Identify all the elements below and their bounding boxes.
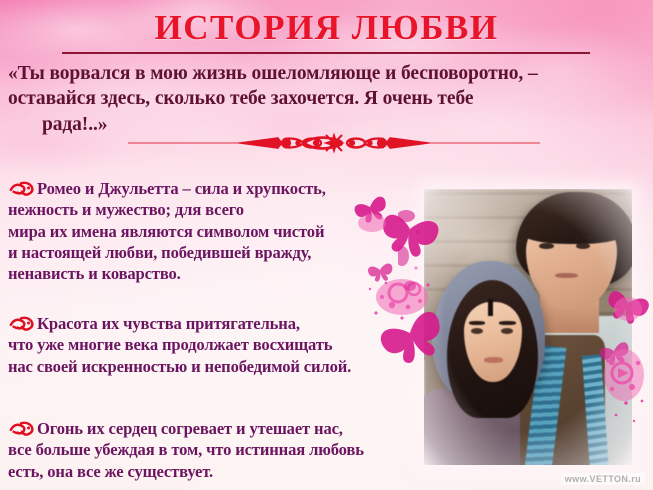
ornamental-divider (126, 131, 542, 155)
woman-mouth (484, 357, 503, 362)
paragraph-1-line-3: мира их имена являются символом чистой (8, 222, 324, 241)
quote-line-2: оставайся здесь, сколько тебе захочется.… (8, 86, 608, 111)
romeo-juliet-photo (424, 189, 632, 465)
paragraph-2-line-3: нас своей искренностью и непобедимой сил… (8, 357, 351, 376)
quote-block: «Ты ворвался в мою жизнь ошеломляюще и б… (8, 61, 608, 137)
photo-watermark: www.VETTON.ru (561, 473, 645, 485)
photo-content (424, 189, 632, 465)
title-underline-rule (62, 52, 590, 54)
red-swirl-bullet-icon (8, 420, 36, 436)
man-mouth (555, 273, 578, 278)
red-swirl-bullet-icon (8, 180, 36, 196)
paragraph-1-line-2: нежность и мужество; для всего (8, 200, 244, 219)
paragraph-2-line-1: Красота их чувства притягательна, (37, 314, 300, 333)
quote-line-1: «Ты ворвался в мою жизнь ошеломляюще и б… (8, 63, 538, 84)
paragraph-1-line-5: ненависть и коварство. (8, 264, 181, 283)
woman-eyebrow-left (469, 321, 486, 325)
man-eyebrow-left (537, 236, 556, 240)
woman-eyebrow-right (499, 321, 516, 325)
paragraph-3-line-1: Огонь их сердец согревает и утешает нас, (37, 419, 343, 438)
paragraph-1-line-4: и настоящей любви, победившей вражду, (8, 243, 311, 262)
presentation-slide: ИСТОРИЯ ЛЮБВИ «Ты ворвался в мою жизнь о… (0, 0, 653, 490)
slide-title: ИСТОРИЯ ЛЮБВИ (0, 10, 653, 45)
man-eyebrow-right (574, 236, 593, 240)
paragraph-2-line-2: что уже многие века продолжает восхищать (8, 335, 332, 354)
paragraph-3-line-3: есть, она все же существует. (8, 462, 213, 481)
body-paragraph-2: Красота их чувства притягательна, что уж… (8, 313, 428, 377)
woman-hair-part (488, 299, 492, 316)
paragraph-1-line-1: Ромео и Джульетта – сила и хрупкость, (37, 179, 326, 198)
red-swirl-bullet-icon (8, 315, 36, 331)
paragraph-3-line-2: все больше убеждая в том, что истинная л… (8, 440, 364, 459)
body-paragraph-3: Огонь их сердец согревает и утешает нас,… (8, 418, 448, 482)
body-paragraph-1: Ромео и Джульетта – сила и хрупкость, не… (8, 178, 408, 285)
